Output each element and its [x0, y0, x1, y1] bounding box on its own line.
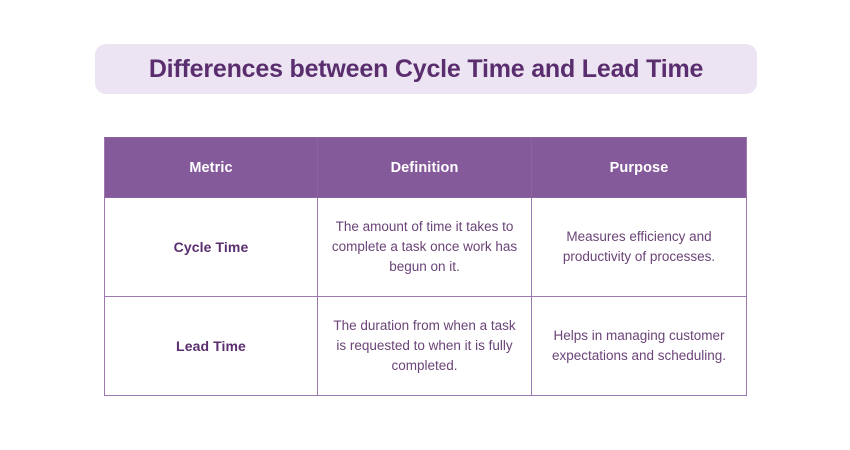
column-header-metric: Metric — [105, 138, 318, 198]
cell-metric-lead-time: Lead Time — [105, 297, 318, 396]
table-row: Lead Time The duration from when a task … — [105, 297, 747, 396]
table-row: Cycle Time The amount of time it takes t… — [105, 198, 747, 297]
title-banner: Differences between Cycle Time and Lead … — [95, 44, 757, 94]
comparison-table-wrapper: Metric Definition Purpose Cycle Time The… — [104, 137, 746, 395]
table-head: Metric Definition Purpose — [105, 138, 747, 198]
page-title: Differences between Cycle Time and Lead … — [149, 57, 703, 82]
cell-purpose-cycle-time: Measures efficiency and productivity of … — [532, 198, 747, 297]
column-header-definition: Definition — [318, 138, 532, 198]
cell-metric-cycle-time: Cycle Time — [105, 198, 318, 297]
table-body: Cycle Time The amount of time it takes t… — [105, 198, 747, 396]
page-root: Differences between Cycle Time and Lead … — [0, 0, 850, 450]
cell-definition-lead-time: The duration from when a task is request… — [318, 297, 532, 396]
cell-purpose-lead-time: Helps in managing customer expectations … — [532, 297, 747, 396]
cell-definition-cycle-time: The amount of time it takes to complete … — [318, 198, 532, 297]
comparison-table: Metric Definition Purpose Cycle Time The… — [104, 137, 747, 396]
table-header-row: Metric Definition Purpose — [105, 138, 747, 198]
column-header-purpose: Purpose — [532, 138, 747, 198]
